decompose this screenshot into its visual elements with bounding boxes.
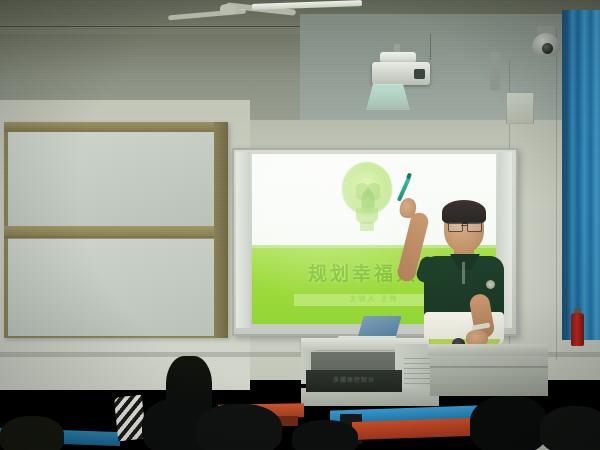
wall-speaker [490,52,500,90]
lens-left [448,222,463,232]
side-counter-seam [430,366,548,368]
presenter [396,176,520,354]
student-head [292,420,358,450]
bulb-base [360,222,374,231]
wall-access-panel [506,92,534,124]
green-lightbulb-tree-logo [336,162,398,236]
glasses-icon [448,222,481,230]
pointer-tip [406,172,412,179]
fire-extinguisher [571,313,584,346]
tree-motif [356,178,380,212]
blackboard-frame-right [214,122,228,338]
curtain-shadow [562,10,574,340]
polo-placket [462,262,465,284]
lectern-front-label: 多媒体控制台 [308,376,400,386]
upper-wall-right [300,14,600,134]
projector-light-beam [366,84,410,110]
camera-lens-icon [542,43,553,54]
lectern-vents [404,358,430,388]
lens-right [467,222,482,232]
classroom-photo: 规划幸福大学 主讲人 王伟 [0,0,600,450]
projector-lens [414,69,425,79]
side-counter-body [430,356,548,396]
glasses-bridge [461,225,467,226]
hair [442,200,486,224]
blackboard-frame-top [4,122,228,132]
blackboard-panel-upper [8,132,214,226]
chalk-tray [4,236,216,239]
shirt-logo [486,280,495,289]
desk-red-right [352,418,470,440]
student-head [196,404,282,450]
student-head [540,406,600,450]
fan-hub [220,4,236,15]
whiteboard-toolbar-left[interactable] [236,152,250,328]
blackboard-panel-lower [8,238,214,336]
student-head [0,416,64,450]
wall-cable [430,34,431,60]
student-head [470,396,548,450]
side-counter-top [428,344,548,356]
wall-seam-far-right [556,30,557,360]
